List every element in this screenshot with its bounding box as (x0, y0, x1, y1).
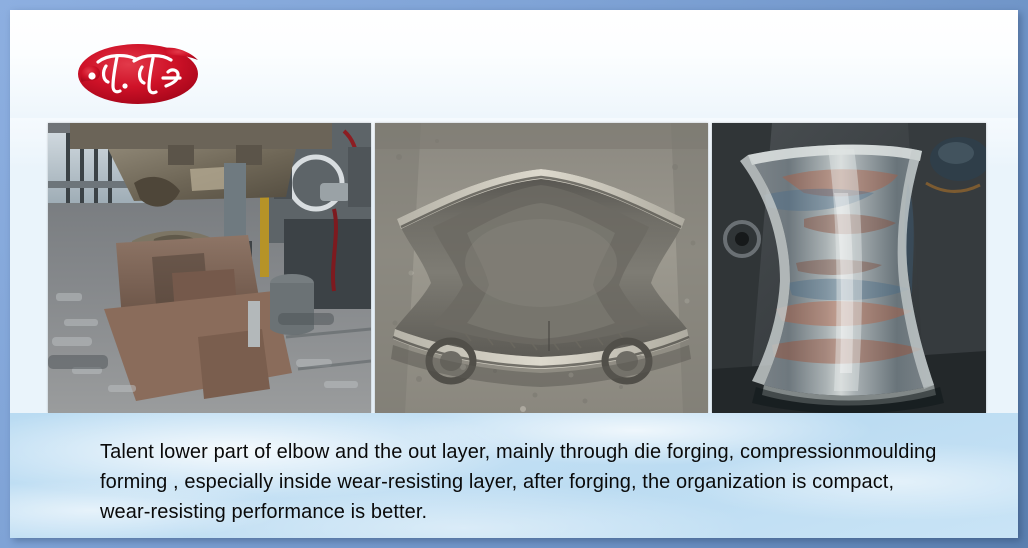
photo-wear-resisting-liner (712, 123, 986, 413)
slide-frame: Talent lower part of elbow and the out l… (0, 0, 1028, 548)
header-band (10, 10, 1018, 118)
caption-band: Talent lower part of elbow and the out l… (10, 413, 1018, 538)
slide-content: Talent lower part of elbow and the out l… (10, 10, 1018, 538)
photo-strip (48, 123, 986, 413)
caption-text: Talent lower part of elbow and the out l… (100, 437, 946, 527)
photo-die-forging-press (48, 123, 371, 413)
photo-forged-elbow-die-half (375, 123, 708, 413)
tf-monogram-logo (68, 34, 208, 112)
